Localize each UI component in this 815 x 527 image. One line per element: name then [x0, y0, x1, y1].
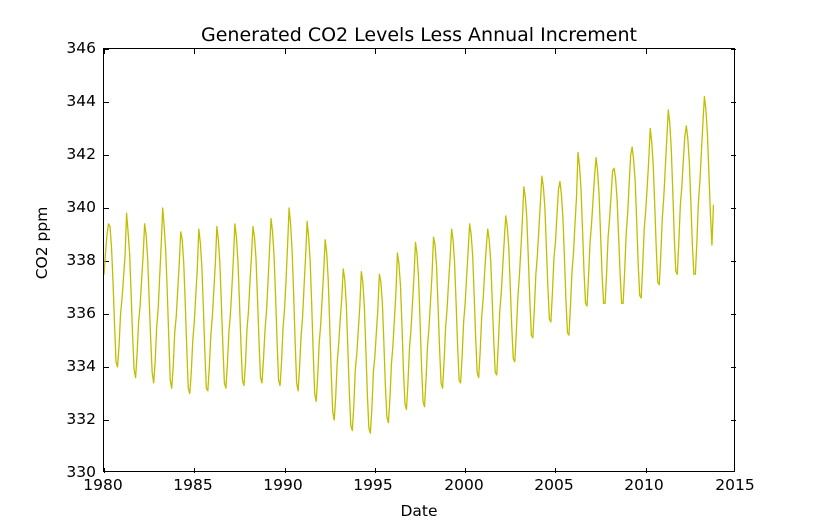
- y-tick-label: 336: [66, 305, 96, 321]
- y-tick-label: 346: [66, 40, 96, 56]
- x-tick-label: 2015: [700, 477, 770, 493]
- y-tick-label: 342: [66, 146, 96, 162]
- x-tick-label: 1980: [68, 477, 138, 493]
- y-tick-label: 338: [66, 252, 96, 268]
- x-tick-label: 1985: [158, 477, 228, 493]
- co2-series-line: [104, 97, 713, 434]
- x-axis-label: Date: [103, 502, 735, 520]
- chart-figure: Generated CO2 Levels Less Annual Increme…: [0, 0, 815, 527]
- y-tick-label: 344: [66, 93, 96, 109]
- plot-svg: [104, 49, 736, 473]
- y-tick-label: 340: [66, 199, 96, 215]
- y-tick-label: 332: [66, 411, 96, 427]
- y-tick-label: 334: [66, 358, 96, 374]
- axis-ticks: [104, 49, 736, 473]
- y-axis-label: CO2 ppm: [33, 183, 51, 303]
- x-tick-label: 2010: [609, 477, 679, 493]
- x-tick-label: 2005: [519, 477, 589, 493]
- chart-title: Generated CO2 Levels Less Annual Increme…: [103, 24, 735, 46]
- x-tick-label: 2000: [429, 477, 499, 493]
- x-tick-label: 1990: [248, 477, 318, 493]
- plot-area: [103, 48, 735, 472]
- x-tick-label: 1995: [338, 477, 408, 493]
